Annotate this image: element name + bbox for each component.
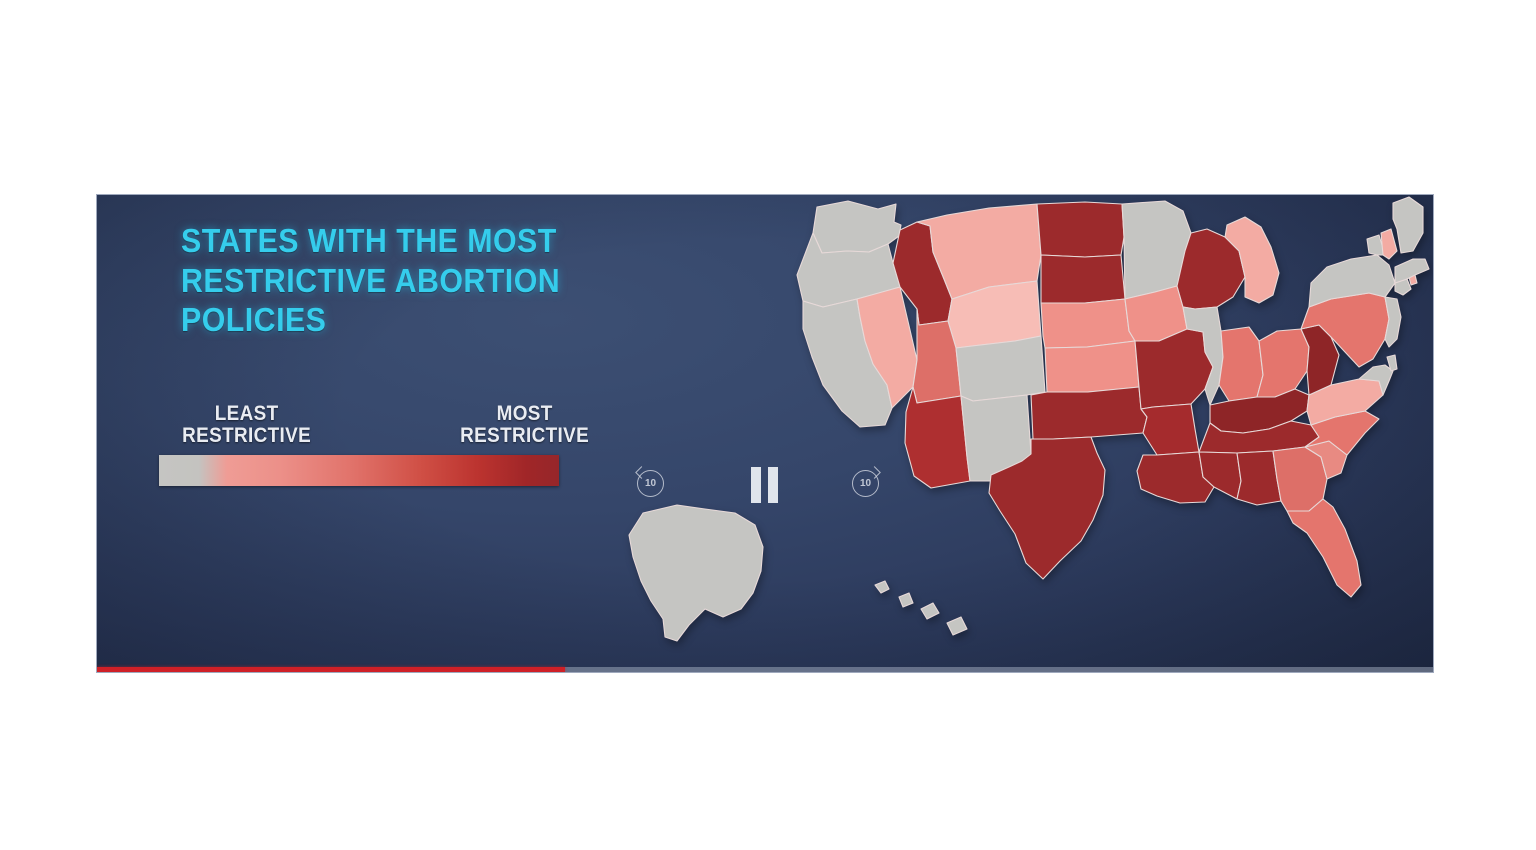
video-progress-track[interactable] [97,667,1433,672]
legend-gradient-bar [159,455,559,486]
state-nh[interactable] [1381,229,1397,259]
state-me[interactable] [1393,197,1423,253]
state-mo[interactable] [1135,329,1213,409]
us-map-svg [617,194,1434,673]
us-choropleth-map [617,194,1434,673]
rewind-10-label: 10 [645,478,656,489]
state-ok[interactable] [1031,387,1147,439]
state-in[interactable] [1219,327,1263,401]
state-ar[interactable] [1141,404,1199,455]
state-az[interactable] [905,387,970,488]
state-hi[interactable] [875,581,967,635]
state-nd[interactable] [1037,202,1124,257]
pause-button[interactable] [747,467,781,503]
forward-10-label: 10 [860,478,871,489]
state-ak[interactable] [629,505,763,641]
pause-bar-left [751,467,761,503]
state-sd[interactable] [1041,255,1125,303]
legend-labels: LEAST RESTRICTIVE MOST RESTRICTIVE [153,391,623,447]
state-ga[interactable] [1273,447,1327,511]
video-progress-fill [97,667,565,672]
video-player-frame[interactable]: STATES WITH THE MOST RESTRICTIVE ABORTIO… [96,194,1434,673]
pause-bar-right [768,467,778,503]
state-fl[interactable] [1287,499,1361,597]
legend-label-least-restrictive: LEAST RESTRICTIVE [182,403,311,448]
state-ks[interactable] [1045,341,1139,392]
rewind-10-icon[interactable]: 10 [637,470,664,497]
map-legend: LEAST RESTRICTIVE MOST RESTRICTIVE [153,391,623,486]
page-root: STATES WITH THE MOST RESTRICTIVE ABORTIO… [0,0,1536,850]
state-oh[interactable] [1257,329,1309,397]
state-ne[interactable] [1041,299,1135,348]
forward-10-icon[interactable]: 10 [852,470,879,497]
legend-label-most-restrictive: MOST RESTRICTIVE [460,403,589,448]
